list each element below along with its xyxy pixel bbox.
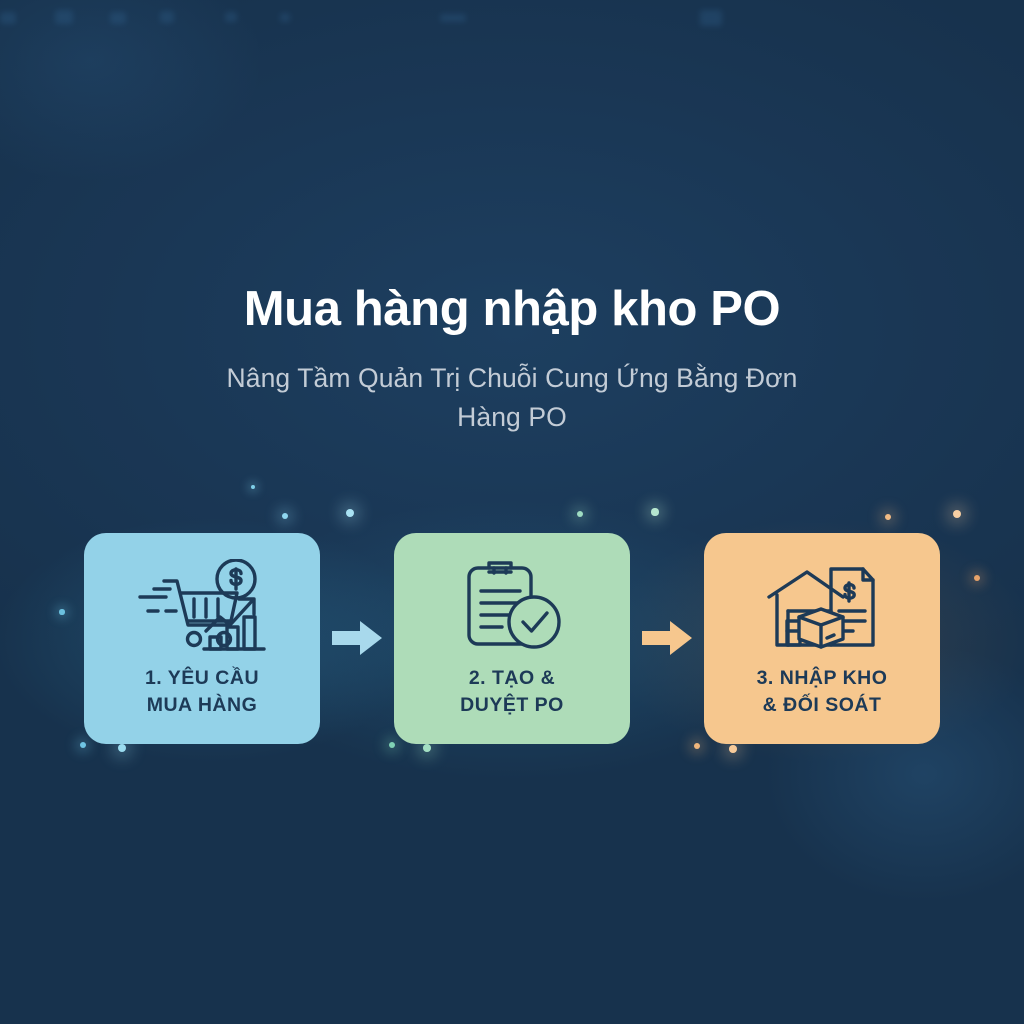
infographic-canvas: Mua hàng nhập kho PO Nâng Tầm Quản Trị C… [0, 0, 1024, 1024]
process-flow: 1. YÊU CẦU MUA HÀNG [0, 532, 1024, 744]
flow-arrow-1 [320, 618, 394, 658]
flow-step-label-2: 2. TẠO & DUYỆT PO [460, 665, 564, 720]
arrow-right-icon [332, 618, 382, 658]
arrow-right-icon [642, 618, 692, 658]
clipboard-check-icon [458, 555, 566, 659]
sparkle-dot [346, 509, 354, 517]
flow-arrow-2 [630, 618, 704, 658]
sparkle-dot [423, 744, 431, 752]
sparkle-dot [651, 508, 658, 515]
sparkle-dot [282, 513, 289, 520]
decorative-dots [0, 0, 1024, 1024]
sparkle-dot [953, 510, 961, 518]
sparkle-dot [885, 514, 892, 521]
shopping-cart-growth-icon [136, 555, 268, 659]
page-title: Mua hàng nhập kho PO [0, 282, 1024, 337]
sparkle-dot [251, 485, 256, 490]
header-block: Mua hàng nhập kho PO Nâng Tầm Quản Trị C… [0, 282, 1024, 436]
page-subtitle: Nâng Tầm Quản Trị Chuỗi Cung Ứng Bằng Đơ… [192, 359, 832, 436]
sparkle-dot [729, 745, 737, 753]
sparkle-dot [577, 511, 584, 518]
background-glow-top-left [0, 0, 260, 180]
flow-step-card-3[interactable]: 3. NHẬP KHO & ĐỐI SOÁT [704, 533, 940, 744]
top-edge-decoration [0, 0, 1024, 30]
warehouse-box-invoice-icon [763, 555, 881, 659]
flow-step-label-3: 3. NHẬP KHO & ĐỐI SOÁT [757, 665, 888, 720]
flow-step-label-1: 1. YÊU CẦU MUA HÀNG [145, 665, 259, 720]
flow-step-card-1[interactable]: 1. YÊU CẦU MUA HÀNG [84, 533, 320, 744]
sparkle-dot [118, 744, 126, 752]
flow-step-card-2[interactable]: 2. TẠO & DUYỆT PO [394, 533, 630, 744]
